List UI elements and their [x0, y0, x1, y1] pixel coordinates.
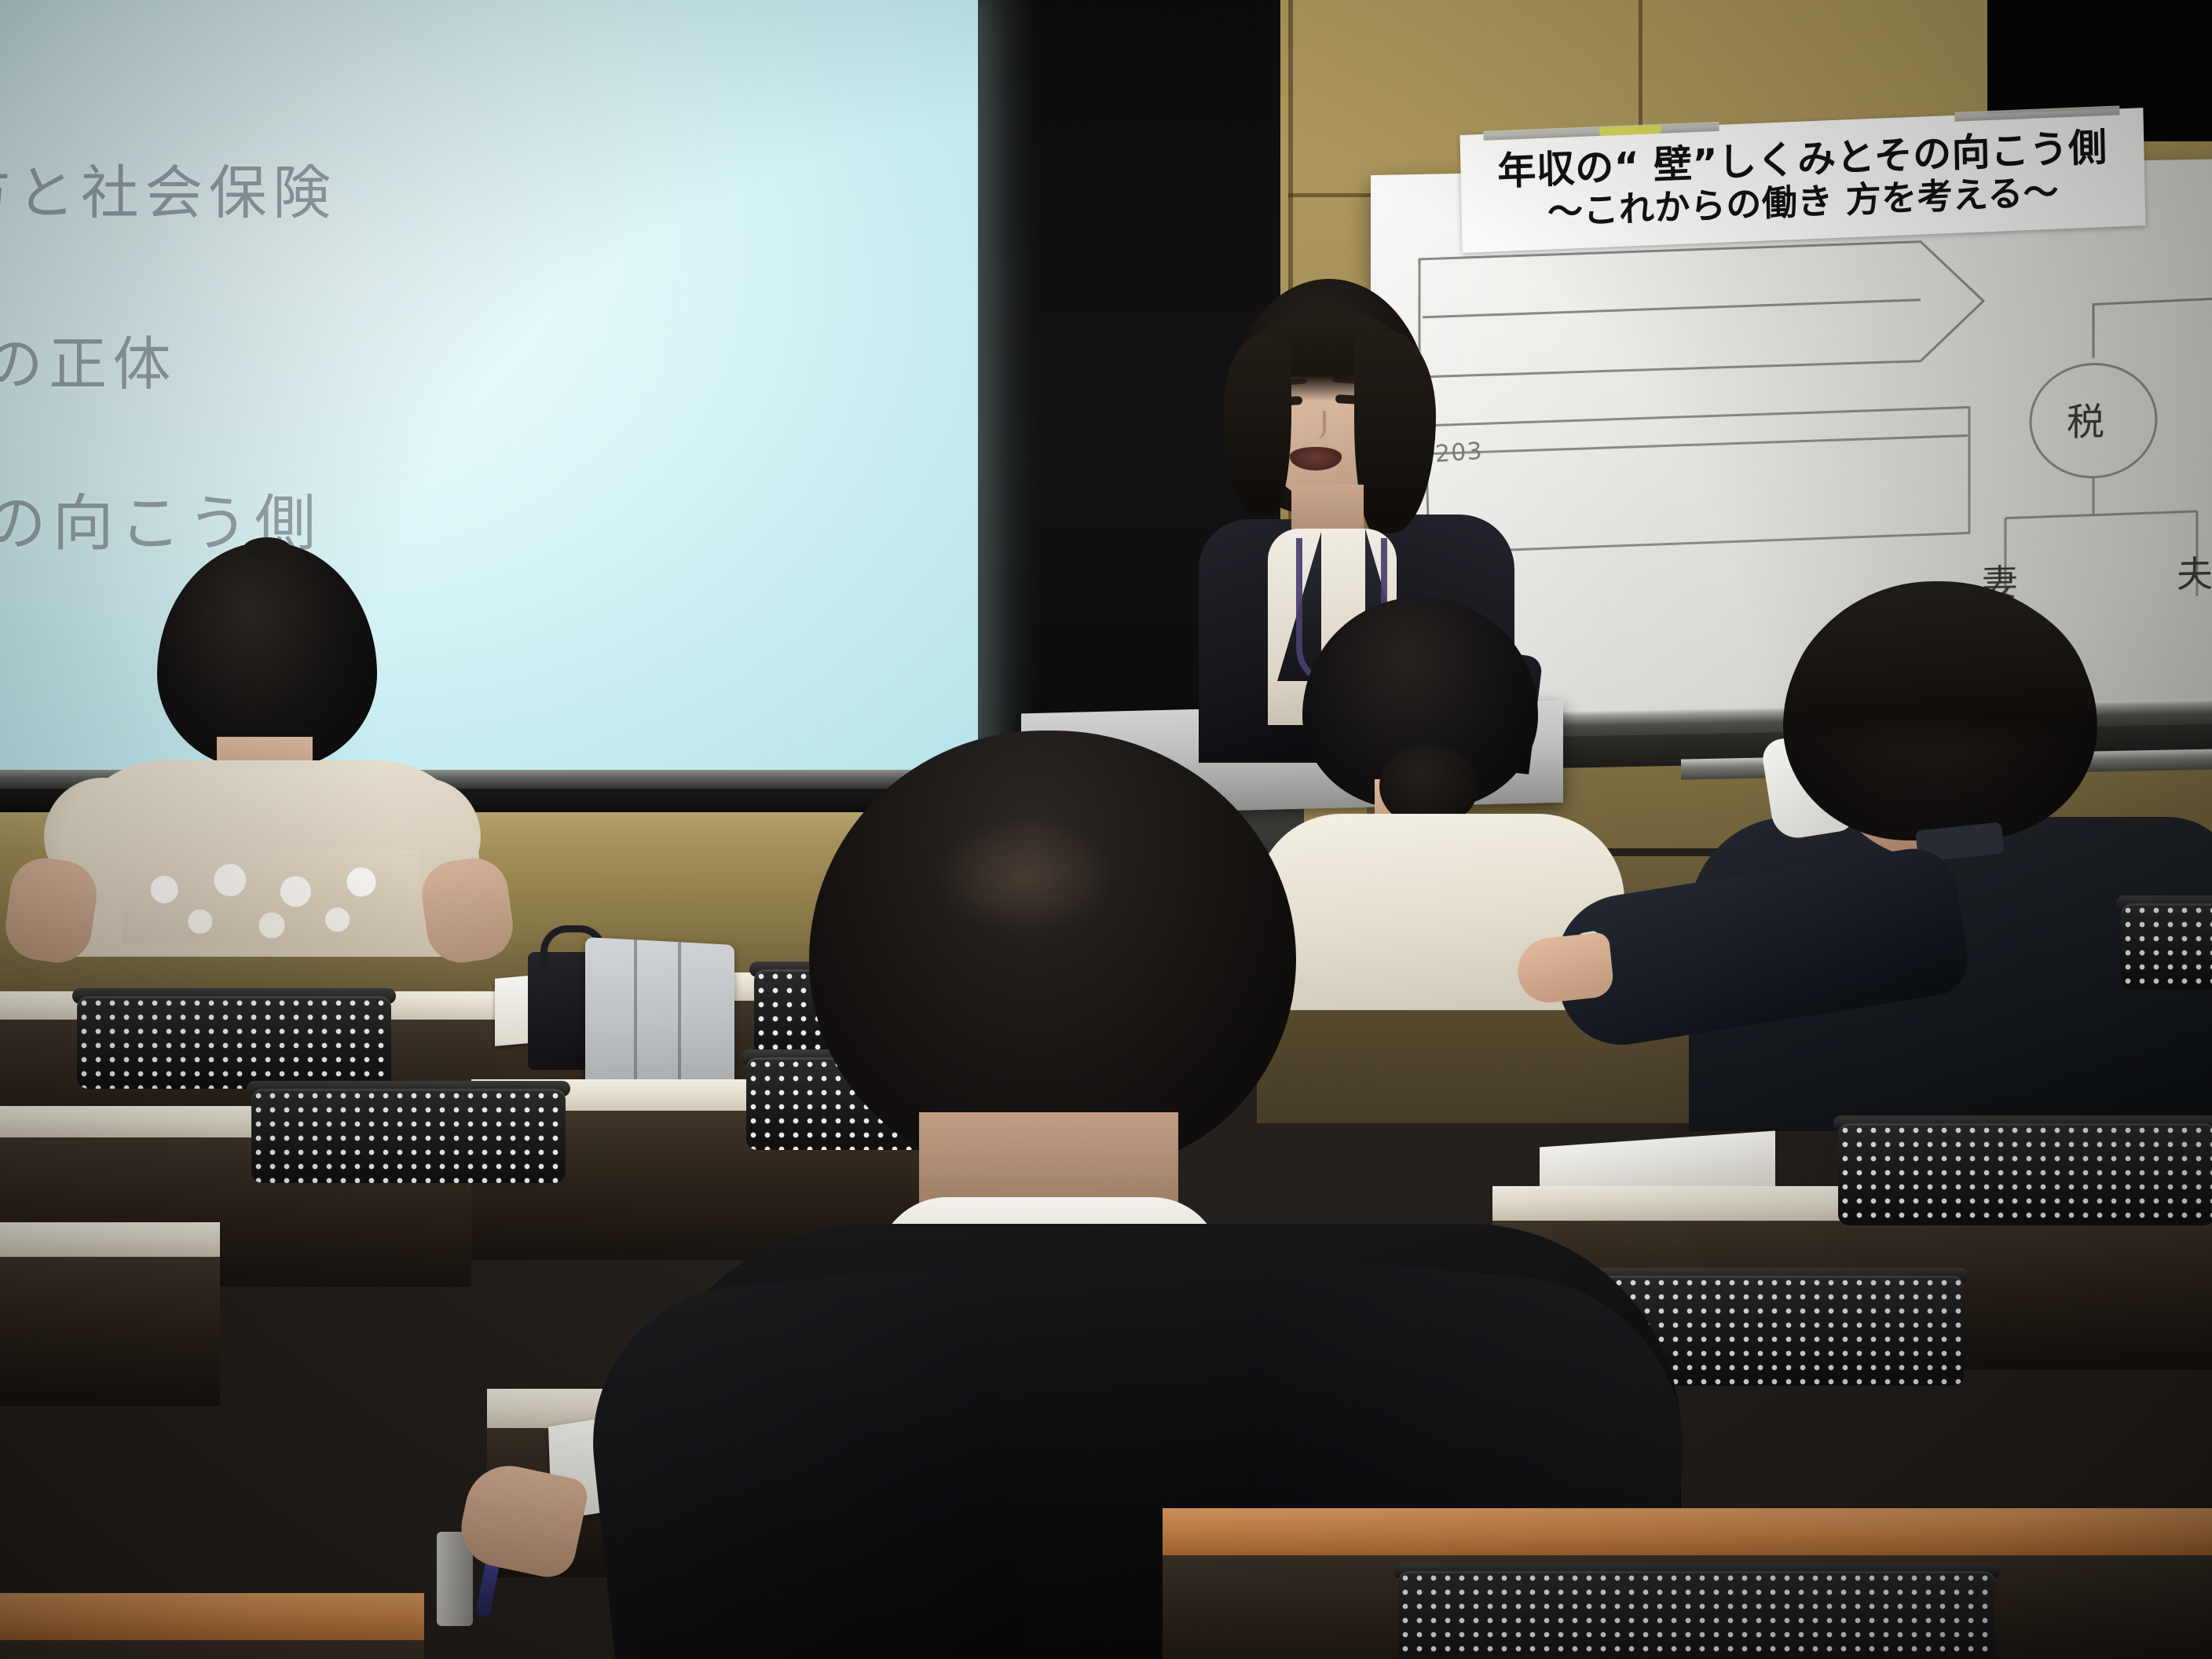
slide-line-2: ” の正体 — [0, 317, 177, 401]
slide-line-1: 方と社会保険 — [0, 146, 336, 230]
chair-row-right-3[interactable] — [1838, 1123, 2212, 1225]
chair-row-a-1[interactable] — [77, 996, 391, 1089]
attendee-front-left-hair-tuft — [244, 537, 291, 559]
attendee-foreground-hair-highlight — [935, 817, 1115, 935]
attendee-front-left-hair — [157, 542, 377, 770]
whiteboard-node-tax: 税 — [2067, 390, 2104, 446]
presenter-nose — [1309, 411, 1326, 439]
desk-surface — [1163, 1508, 2212, 1555]
presenter-hair-side-left — [1224, 334, 1291, 516]
attendee-right-hair-cap — [1789, 584, 2091, 753]
attendee-front-left-lace-panel — [123, 850, 421, 944]
chair-row-b-1[interactable] — [251, 1089, 566, 1183]
chair-foreground[interactable] — [1398, 1571, 1995, 1659]
chair-mesh-back — [251, 1089, 566, 1183]
presenter-hair-side-right — [1354, 331, 1436, 533]
suit-shoulder-left — [577, 1260, 1024, 1659]
desk-front-panel — [0, 1257, 220, 1406]
foreground-desk-left — [0, 1593, 424, 1640]
chair-mesh-back — [2121, 903, 2212, 990]
chair-mesh-back — [1398, 1571, 1995, 1659]
attendee-front-left-figure — [8, 542, 511, 950]
desk-front-panel — [0, 1640, 424, 1659]
lecture-room-photo: 方と社会保険 ” の正体 ” の向こう側 の — [0, 0, 2212, 1659]
desk-row-4-left — [0, 1222, 220, 1257]
attendee-foreground-hair — [809, 731, 1296, 1170]
desk-surface — [0, 1593, 424, 1640]
desk-surface — [0, 1222, 220, 1257]
tape-strip-yellow — [1599, 125, 1661, 136]
foreground-desk — [1163, 1508, 2212, 1555]
attendee-right-figure — [1657, 581, 2212, 1131]
chair-mesh-back — [77, 996, 391, 1089]
chair-mesh-back — [1838, 1123, 2212, 1225]
chair-row-right-2[interactable] — [2121, 903, 2212, 990]
